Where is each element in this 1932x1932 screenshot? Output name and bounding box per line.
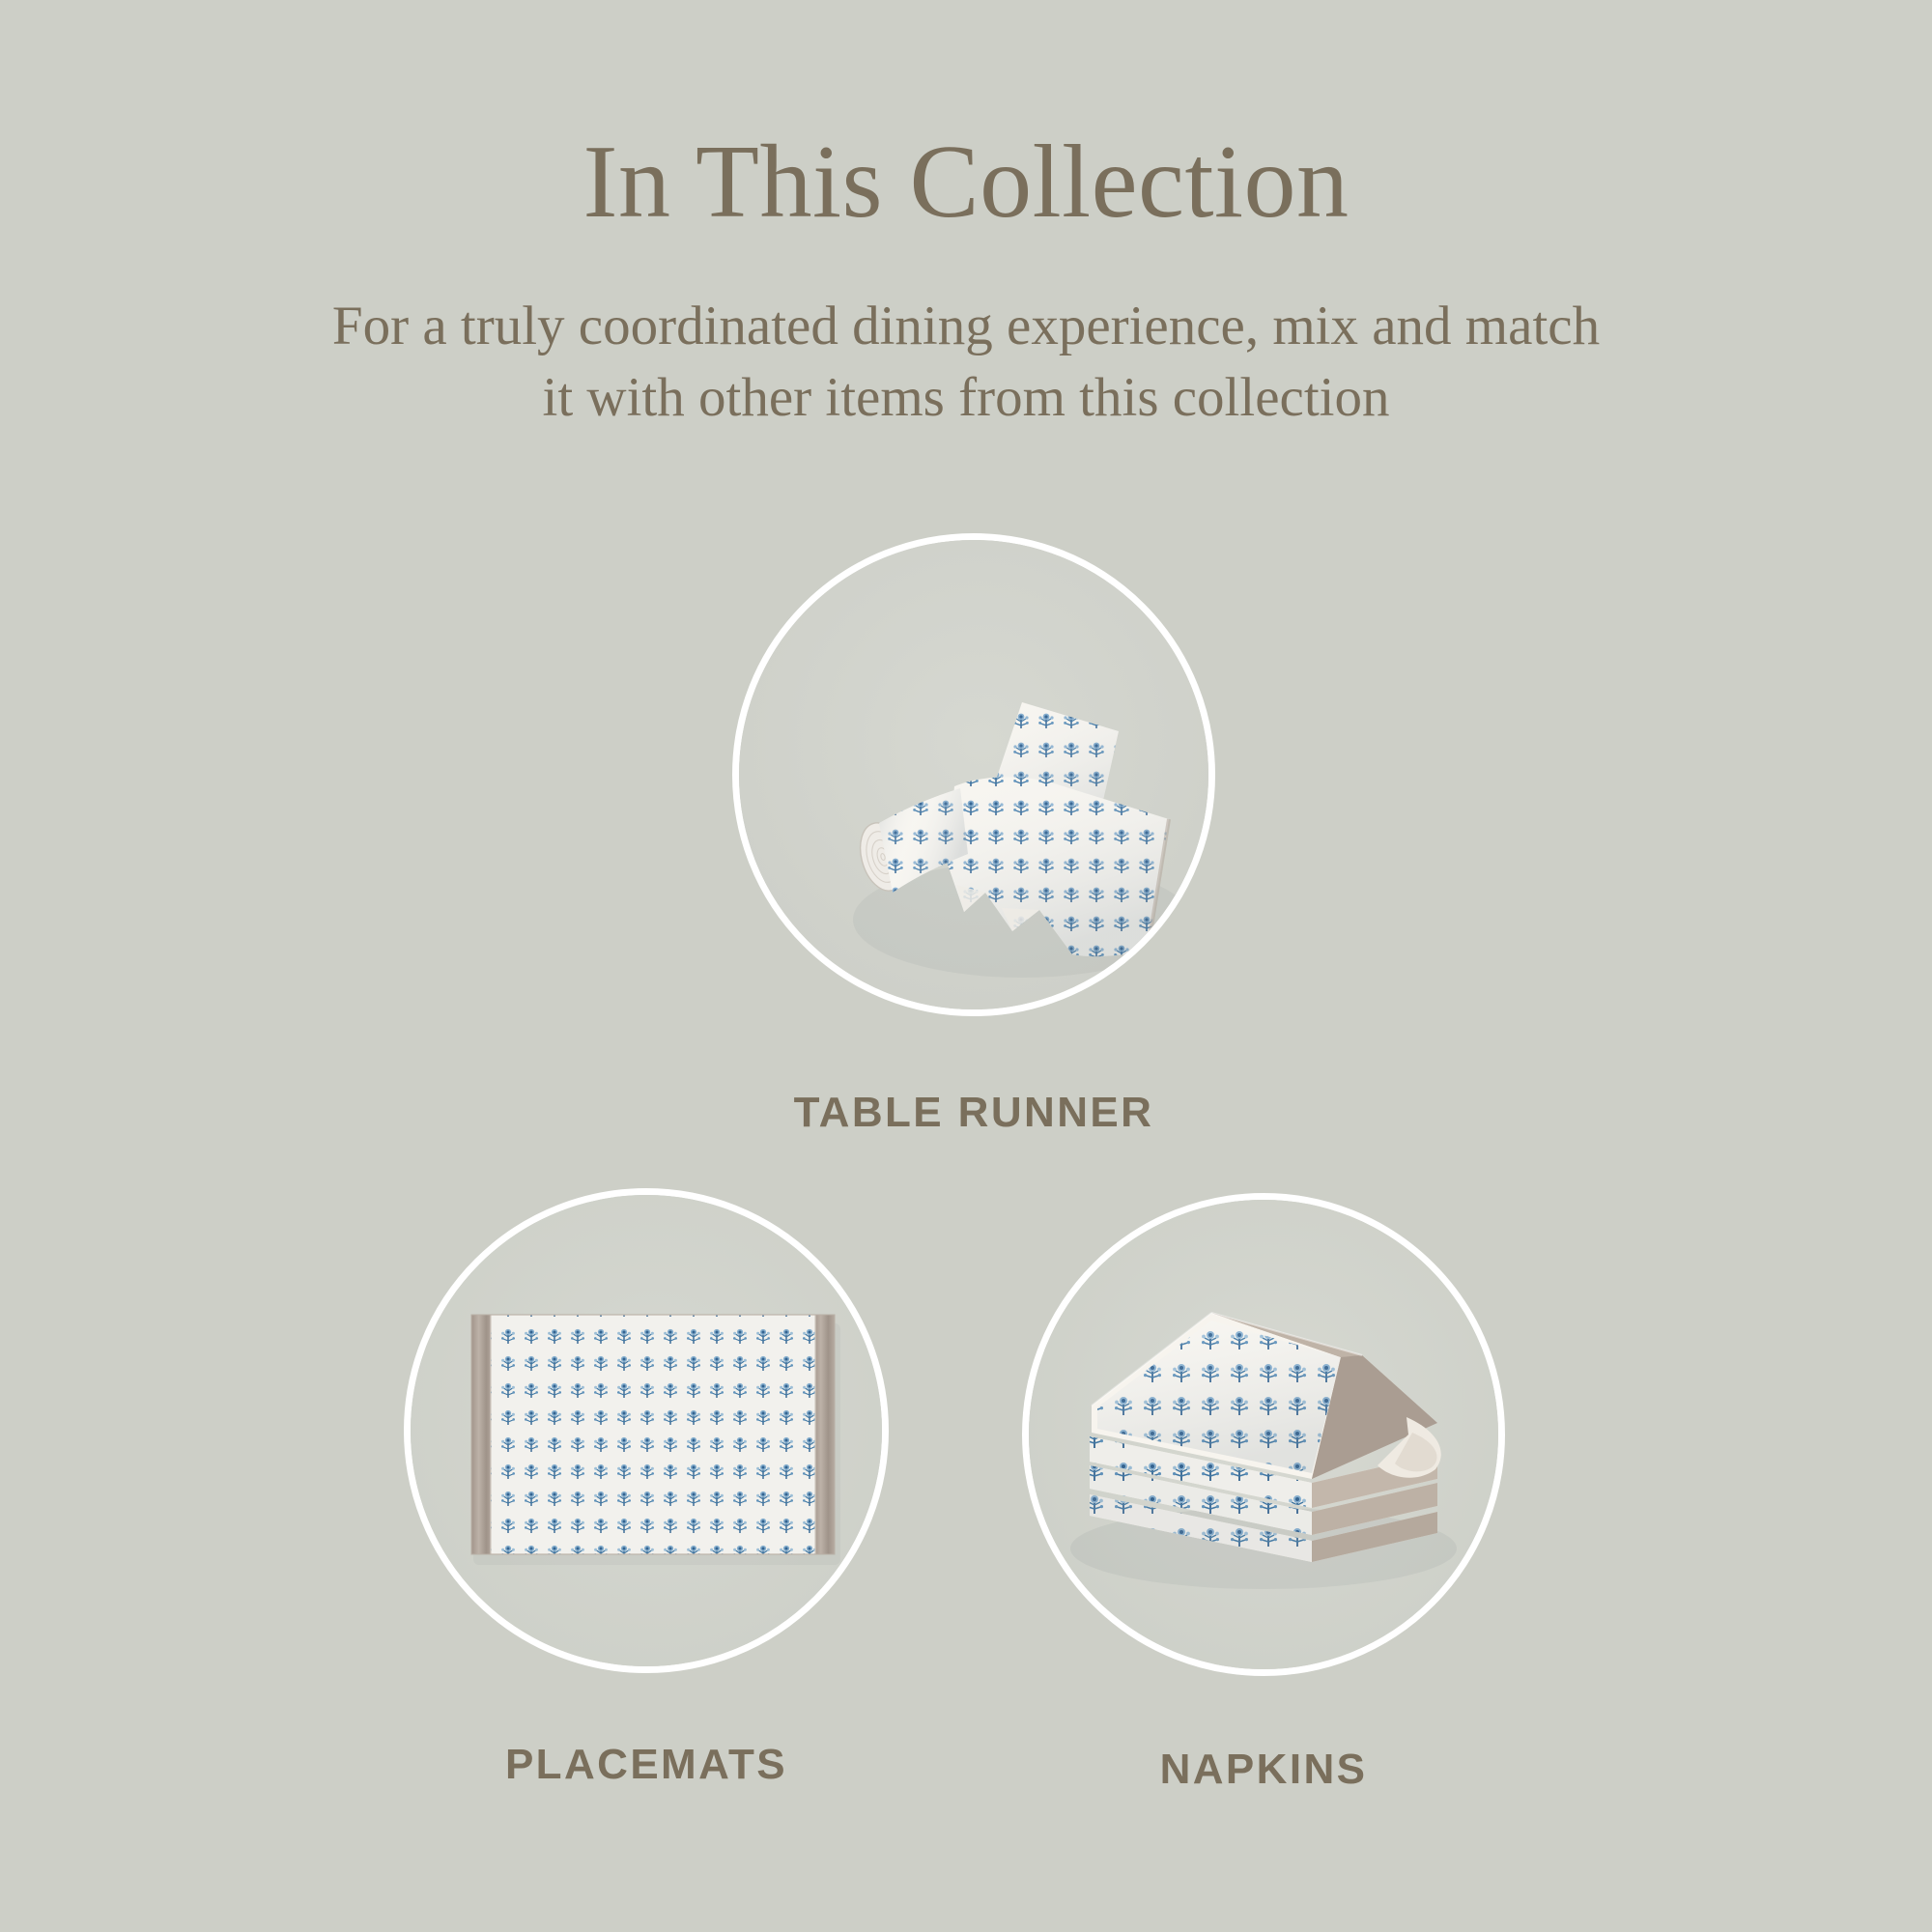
table-runner-photo [732, 533, 1215, 1016]
placemat-illustration [404, 1188, 889, 1673]
collection-items: TABLE RUNNER [0, 0, 1932, 1932]
napkins-photo [1022, 1193, 1505, 1676]
placemats-caption: PLACEMATS [404, 1741, 889, 1789]
napkins-image-circle[interactable] [1022, 1193, 1505, 1676]
table-runner-caption: TABLE RUNNER [732, 1089, 1215, 1137]
napkins-illustration [1022, 1193, 1505, 1676]
napkins-caption: NAPKINS [1022, 1746, 1505, 1794]
table-runner-image-circle[interactable] [732, 533, 1215, 1016]
table-runner-illustration [732, 533, 1215, 1016]
placemats-photo [404, 1188, 889, 1673]
collection-promo-page: In This Collection For a truly coordinat… [0, 0, 1932, 1932]
placemats-image-circle[interactable] [404, 1188, 889, 1673]
